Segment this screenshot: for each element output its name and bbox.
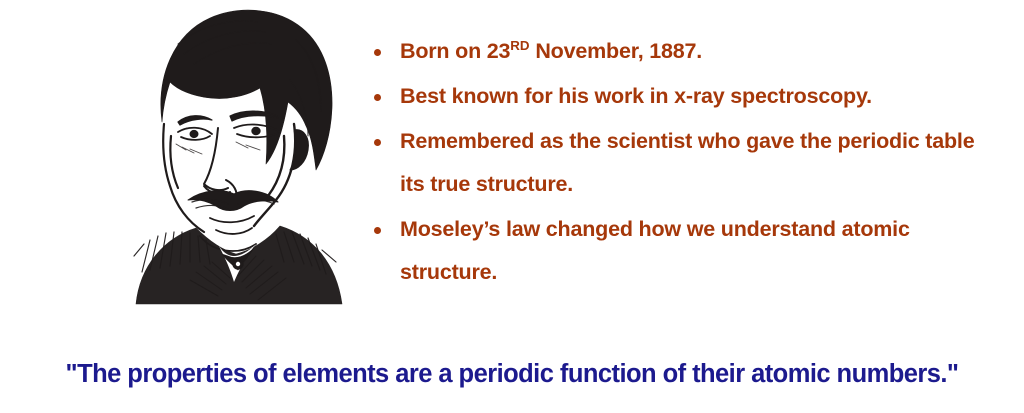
list-item: Best known for his work in x-ray spectro… [370, 75, 1000, 118]
quotation-text: "The properties of elements are a period… [0, 354, 1024, 394]
facts-list: Born on 23RD November, 1887. Best known … [370, 30, 1000, 296]
fact-ordinal-suffix: RD [510, 38, 529, 53]
fact-text-before: Born on 23 [400, 39, 510, 63]
list-item: Born on 23RD November, 1887. [370, 30, 1000, 73]
bullet-point-icon [374, 94, 381, 101]
fact-text-before: Best known for his work in x-ray spectro… [400, 84, 872, 108]
infographic-slide: Born on 23RD November, 1887. Best known … [0, 0, 1024, 413]
fact-text-after: November, 1887. [530, 39, 703, 63]
bullet-point-icon [374, 49, 381, 56]
list-item: Moseley’s law changed how we understand … [370, 208, 1000, 294]
bullet-point-icon [374, 139, 381, 146]
portrait-illustration [126, 4, 350, 306]
fact-text-before: Remembered as the scientist who gave the… [400, 129, 974, 196]
bullet-point-icon [374, 227, 381, 234]
fact-text-before: Moseley’s law changed how we understand … [400, 217, 910, 284]
list-item: Remembered as the scientist who gave the… [370, 120, 1000, 206]
